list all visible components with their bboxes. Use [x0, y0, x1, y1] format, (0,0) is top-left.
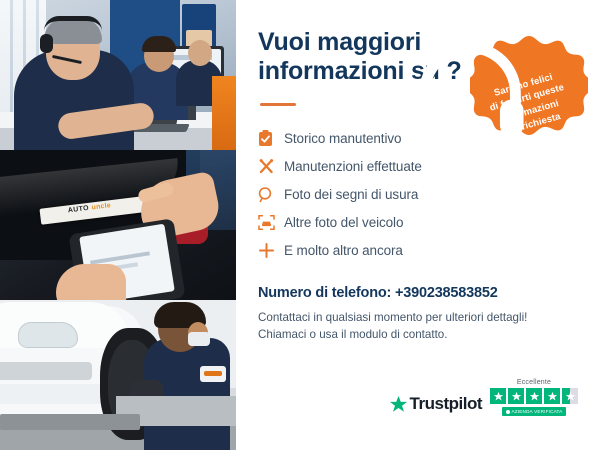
magnifier-icon: [258, 186, 284, 203]
trustpilot-rating: Eccellente: [490, 379, 578, 416]
list-item: Altre foto del veicolo: [258, 210, 578, 235]
star-2: [508, 388, 524, 404]
star-3: [526, 388, 542, 404]
trustpilot-name: Trustpilot: [410, 394, 482, 414]
title-divider: [260, 103, 296, 106]
contact-line-1: Contattaci in qualsiasi momento per ulte…: [258, 309, 578, 326]
car-bumper: [0, 384, 106, 404]
phone-number[interactable]: Numero di telefono: +390238583852: [258, 285, 578, 301]
tools-cross-icon: [258, 158, 284, 175]
verified-label: AZIENDA VERIFICATA: [512, 409, 563, 414]
vehicle-info-banner: Vuoi maggiori informazioni su ? Saremo f…: [0, 0, 600, 450]
list-item: E molto altro ancora: [258, 238, 578, 263]
car-lift: [0, 414, 140, 430]
content-panel: Vuoi maggiori informazioni su ? Saremo f…: [236, 0, 600, 450]
verified-check-icon: [506, 410, 510, 414]
technician-hand-2: [56, 264, 126, 300]
photo-mechanic-wheel: [0, 300, 236, 450]
star-4: [544, 388, 560, 404]
clipboard-check-icon: [258, 130, 284, 147]
list-item-label: Storico manutentivo: [284, 131, 401, 146]
list-item-label: E molto altro ancora: [284, 243, 403, 258]
trustpilot-logo: Trustpilot: [389, 394, 482, 416]
plus-icon: [258, 242, 284, 259]
list-item: Manutenzioni effettuate: [258, 154, 578, 179]
car-grille: [0, 362, 92, 380]
list-item-label: Foto dei segni di usura: [284, 187, 418, 202]
orange-panel: [212, 76, 236, 150]
rating-caption: Eccellente: [517, 379, 551, 386]
headset-earcup: [40, 34, 53, 53]
headset-band: [44, 16, 102, 31]
agent-hair-2: [142, 36, 176, 52]
mechanic-mask: [188, 332, 210, 346]
star-rating: [490, 388, 578, 404]
uniform-logo: [200, 366, 226, 382]
star-1: [490, 388, 506, 404]
car-headlight: [18, 322, 78, 348]
car-scan-icon: [258, 214, 284, 231]
verified-badge: AZIENDA VERIFICATA: [502, 407, 567, 416]
list-item-label: Altre foto del veicolo: [284, 215, 403, 230]
star-5: [562, 388, 578, 404]
contact-instructions: Contattaci in qualsiasi momento per ulte…: [258, 309, 578, 344]
photo-vehicle-inspection: [0, 150, 236, 300]
agent-head-3: [188, 40, 212, 66]
photo-column: [0, 0, 236, 450]
trustpilot-widget[interactable]: Trustpilot Eccellente: [389, 379, 578, 416]
headline-line-1: Vuoi maggiori: [258, 28, 421, 56]
list-item: Foto dei segni di usura: [258, 182, 578, 207]
trustpilot-star-icon: [389, 395, 408, 414]
list-item-label: Manutenzioni effettuate: [284, 159, 422, 174]
callout-badge: Saremo felici di fornirti queste informa…: [470, 34, 588, 152]
photo-call-center: [0, 0, 236, 150]
contact-line-2: Chiamaci o usa il modulo di contatto.: [258, 326, 578, 343]
